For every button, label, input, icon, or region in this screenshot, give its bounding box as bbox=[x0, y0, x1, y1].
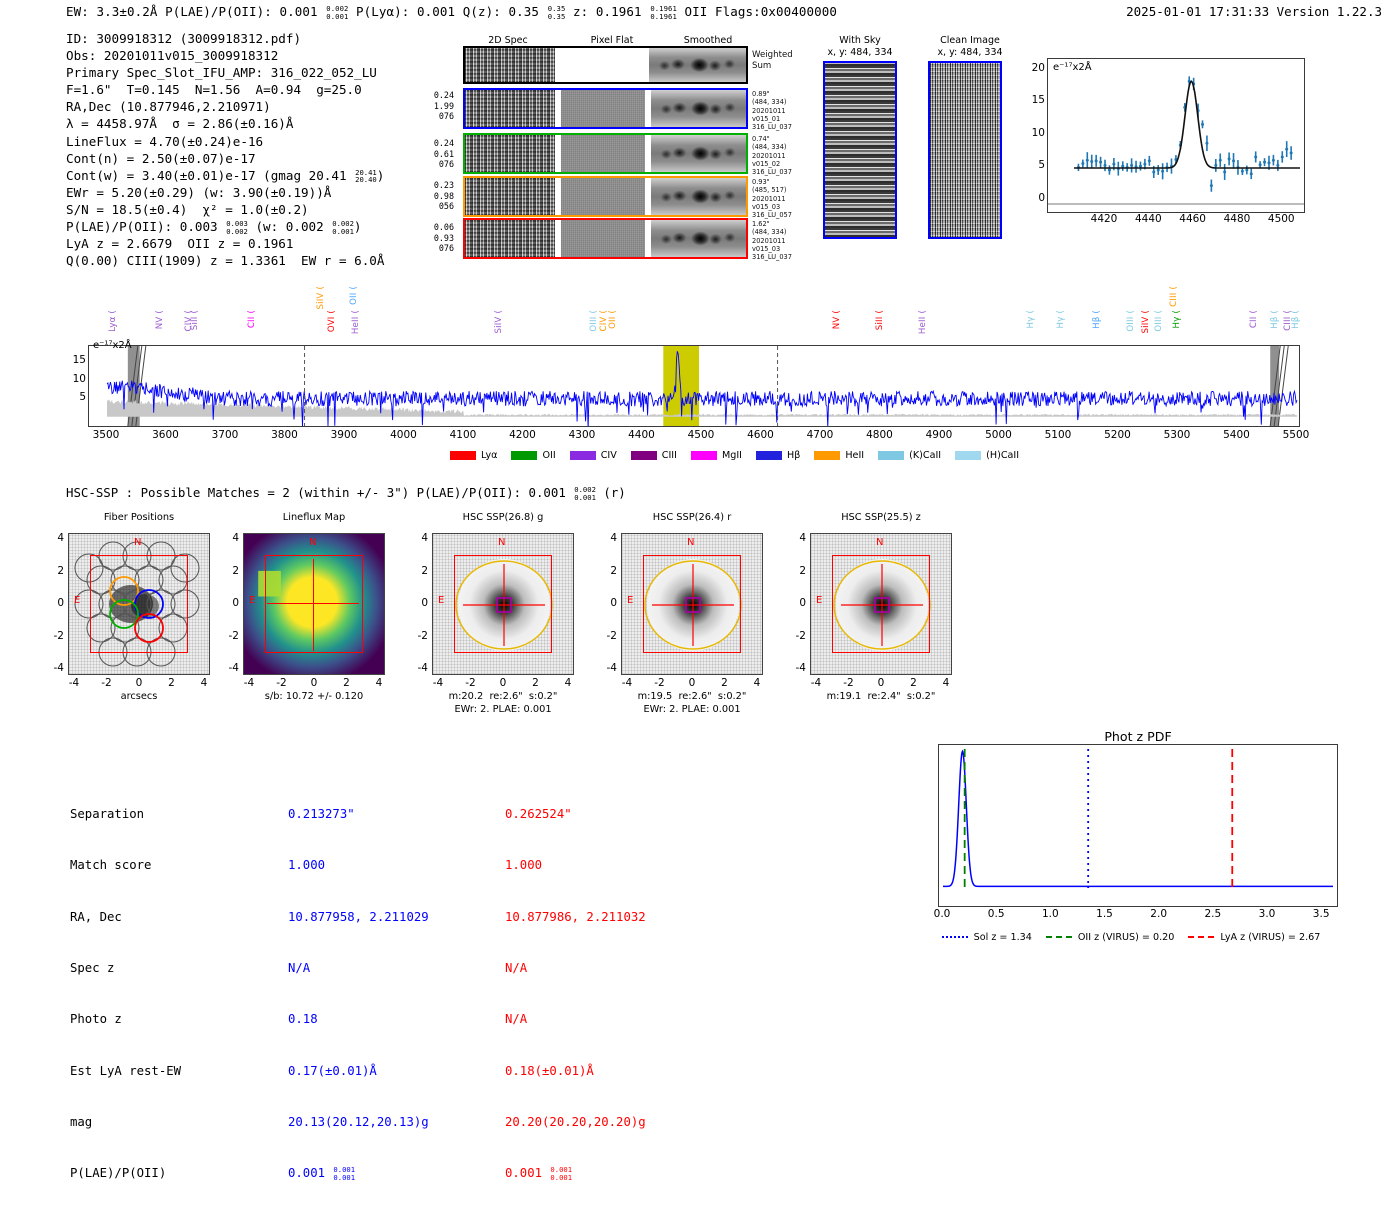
match-table-labels: Separation Match score RA, Dec Spec z Ph… bbox=[70, 772, 181, 1216]
tick-label: -4 bbox=[234, 677, 264, 689]
tick-label: 1.5 bbox=[1085, 908, 1125, 920]
info-contw: Cont(w) = 3.40(±0.01)e-17 (gmag 20.41 20… bbox=[66, 167, 384, 184]
cutout-aperture-box-3 bbox=[643, 555, 741, 653]
tick-label: -4 bbox=[42, 662, 64, 674]
tick-label: 0 bbox=[784, 597, 806, 609]
tick-label: -4 bbox=[784, 662, 806, 674]
info-contn: Cont(n) = 2.50(±0.07)e-17 bbox=[66, 150, 384, 167]
info-ewr: EWr = 5.20(±0.29) (w: 3.90(±0.19))Å bbox=[66, 184, 384, 201]
photz-legend: Sol z = 1.34OII z (VIRUS) = 0.20LyA z (V… bbox=[938, 925, 1338, 944]
spec2d-row-1 bbox=[463, 133, 748, 174]
cutout-caption-2: m:20.2 re:2.6" s:0.2" bbox=[408, 691, 598, 704]
emission-line-label-ovi: OVI ( bbox=[327, 310, 337, 332]
spec2d-title-smoothed: Smoothed bbox=[668, 35, 748, 46]
tick-label: -2 bbox=[42, 630, 64, 642]
match-blue-mag: 20.13(20.12,20.13)g bbox=[288, 1114, 429, 1131]
cutout-crosshair-h bbox=[267, 603, 359, 604]
info-plae: P(LAE)/P(OII): 0.003 0.0030.002 (w: 0.00… bbox=[66, 218, 384, 235]
emission-line-label-hβ: Hβ ( bbox=[1291, 310, 1301, 329]
compass-north-0: N bbox=[134, 537, 141, 548]
photz-legend-label: Sol z = 1.34 bbox=[974, 932, 1032, 943]
tick-label: -4 bbox=[801, 677, 831, 689]
spec2d-title-pixelflat: Pixel Flat bbox=[572, 35, 652, 46]
emission-line-label-oii: OII ( bbox=[349, 286, 359, 305]
tick-label: 3500 bbox=[82, 429, 130, 441]
match-red-plae-errors: 0.0010.001 bbox=[550, 1166, 572, 1181]
tick-label: 4100 bbox=[439, 429, 487, 441]
clean-image-title: Clean Image bbox=[910, 35, 1030, 46]
match-red-plae: 0.001 0.0010.001 bbox=[505, 1165, 646, 1182]
tick-label: 2 bbox=[595, 565, 617, 577]
tick-label: -2 bbox=[406, 630, 428, 642]
clean-image bbox=[928, 61, 1002, 239]
source-info-block: ID: 3009918312 (3009918312.pdf) Obs: 202… bbox=[66, 30, 384, 269]
tick-label: 4700 bbox=[796, 429, 844, 441]
info-obs: Obs: 20201011v015_3009918312 bbox=[66, 47, 384, 64]
cutout-title-1: Lineflux Map bbox=[223, 512, 405, 525]
emission-line-label-hγ: Hγ ( bbox=[1026, 310, 1036, 328]
compass-north-2: N bbox=[498, 537, 505, 548]
spec2d-row-0 bbox=[463, 88, 748, 129]
tick-label: 4900 bbox=[915, 429, 963, 441]
cutout-aperture-box-0 bbox=[90, 555, 188, 653]
legend-item-ciii: CIII bbox=[631, 450, 677, 461]
tick-label: 4480 bbox=[1216, 213, 1258, 225]
tick-label: 0.5 bbox=[976, 908, 1016, 920]
legend-swatch bbox=[878, 451, 904, 460]
tick-label: 5300 bbox=[1153, 429, 1201, 441]
tick-label: -2 bbox=[784, 630, 806, 642]
with-sky-image bbox=[823, 61, 897, 239]
header-z-errors: 0.19610.1961 bbox=[650, 5, 677, 20]
tick-label: 0 bbox=[1021, 192, 1045, 204]
photz-legend-label: OII z (VIRUS) = 0.20 bbox=[1078, 932, 1175, 943]
line-profile-svg bbox=[1048, 59, 1304, 212]
legend-swatch bbox=[814, 451, 840, 460]
emission-line-label-siiv: SiIV ( bbox=[1141, 310, 1151, 334]
tick-label: 5 bbox=[1021, 159, 1045, 171]
tick-label: 4 bbox=[406, 532, 428, 544]
emission-line-label-siiv: SiIV ( bbox=[316, 286, 326, 310]
spec2d-row-0-meta: 0.89" (484, 334) 20201011 v015_01 316_LU… bbox=[752, 90, 792, 131]
header-z-text: z: 0.1961 bbox=[565, 4, 649, 19]
tick-label: 4500 bbox=[677, 429, 725, 441]
legend-swatch bbox=[511, 451, 537, 460]
header-plae-errors: 0.0020.001 bbox=[326, 5, 348, 20]
match-red-specz: N/A bbox=[505, 960, 646, 977]
legend-item-kcaii: (K)CaII bbox=[878, 450, 941, 461]
tick-label: 0 bbox=[217, 597, 239, 609]
compass-east-1: E bbox=[249, 595, 255, 606]
tick-label: 2 bbox=[157, 677, 187, 689]
tick-label: 1.0 bbox=[1030, 908, 1070, 920]
photz-legend-swatch bbox=[1046, 936, 1072, 938]
tick-label: 3800 bbox=[261, 429, 309, 441]
compass-north-1: N bbox=[309, 537, 316, 548]
spec2d-row-2-meta: 0.93" (485, 517) 20201011 v015_03 316_LU… bbox=[752, 178, 792, 219]
tick-label: 2 bbox=[710, 677, 740, 689]
tick-label: 2.0 bbox=[1139, 908, 1179, 920]
tick-label: 0 bbox=[595, 597, 617, 609]
match-label-separation: Separation bbox=[70, 806, 181, 823]
tick-label: 15 bbox=[1021, 94, 1045, 106]
tick-label: 10 bbox=[1021, 127, 1045, 139]
tick-label: 4 bbox=[742, 677, 772, 689]
tick-label: 4200 bbox=[499, 429, 547, 441]
compass-north-4: N bbox=[876, 537, 883, 548]
spec2d-row-0-nums: 0.24 1.99 076 bbox=[420, 90, 454, 122]
legend-swatch bbox=[756, 451, 782, 460]
emission-line-label-siiv: SiIV ( bbox=[494, 310, 504, 334]
tick-label: 4600 bbox=[737, 429, 785, 441]
tick-label: 4 bbox=[931, 677, 961, 689]
line-profile-plot bbox=[1047, 58, 1305, 213]
legend-swatch bbox=[691, 451, 717, 460]
tick-label: 4 bbox=[364, 677, 394, 689]
info-contw-errors: 20.4120.40 bbox=[355, 169, 377, 184]
tick-label: 5000 bbox=[975, 429, 1023, 441]
spec2d-row-3-nums: 0.06 0.93 076 bbox=[420, 222, 454, 254]
tick-label: 5 bbox=[62, 391, 86, 403]
tick-label: 2 bbox=[784, 565, 806, 577]
match-label-mag: mag bbox=[70, 1114, 181, 1131]
cutout-caption-4: m:19.1 re:2.4" s:0.2" bbox=[786, 691, 976, 704]
tick-label: 10 bbox=[62, 373, 86, 385]
tick-label: 2.5 bbox=[1193, 908, 1233, 920]
line-profile-ylabel: e⁻¹⁷x2Å bbox=[1053, 62, 1092, 73]
tick-label: -4 bbox=[59, 677, 89, 689]
info-slot: Primary Spec_Slot_IFU_AMP: 316_022_052_L… bbox=[66, 64, 384, 81]
info-q-line: Q(0.00) CIII(1909) z = 1.3361 EW r = 6.0… bbox=[66, 252, 384, 269]
tick-label: -2 bbox=[267, 677, 297, 689]
legend-item-heii: HeII bbox=[814, 450, 864, 461]
tick-label: 0 bbox=[677, 677, 707, 689]
info-lambda: λ = 4458.97Å σ = 2.86(±0.16)Å bbox=[66, 115, 384, 132]
match-blue-plae-errors: 0.0010.001 bbox=[333, 1166, 355, 1181]
tick-label: -4 bbox=[595, 662, 617, 674]
cutout-title-4: HSC SSP(25.5) z bbox=[790, 512, 972, 525]
tick-label: 15 bbox=[62, 354, 86, 366]
emission-line-label-civ: CIV ( bbox=[184, 310, 194, 332]
legend-label: OII bbox=[542, 450, 555, 461]
emission-line-label-hγ: Hγ ( bbox=[1172, 310, 1182, 328]
emission-line-label-heii: HeII ( bbox=[351, 310, 361, 334]
match-red-mag: 20.20(20.20,20.20)g bbox=[505, 1114, 646, 1131]
tick-label: 4 bbox=[217, 532, 239, 544]
full-spectrum-svg bbox=[89, 346, 1299, 426]
clean-image-coords: x, y: 484, 334 bbox=[910, 47, 1030, 58]
legend-item-oii: OII bbox=[511, 450, 555, 461]
compass-east-4: E bbox=[816, 595, 822, 606]
cutout-title-0: Fiber Positions bbox=[48, 512, 230, 525]
tick-label: 0 bbox=[124, 677, 154, 689]
emission-line-label-hγ: Hγ ( bbox=[1056, 310, 1066, 328]
legend-label: CIV bbox=[601, 450, 617, 461]
spec2d-title-2dspec: 2D Spec bbox=[468, 35, 548, 46]
tick-label: 4 bbox=[189, 677, 219, 689]
cutout-crosshair-v bbox=[313, 559, 314, 651]
legend-label: Lyα bbox=[481, 450, 497, 461]
photz-svg bbox=[939, 745, 1337, 906]
emission-line-label-nv: NV ( bbox=[155, 310, 165, 329]
tick-label: 0 bbox=[406, 597, 428, 609]
info-id: ID: 3009918312 (3009918312.pdf) bbox=[66, 30, 384, 47]
with-sky-title: With Sky bbox=[805, 35, 915, 46]
match-red-radec: 10.877986, 2.211032 bbox=[505, 909, 646, 926]
spec2d-row-1-meta: 0.74" (484, 334) 20201011 v015_02 316_LU… bbox=[752, 135, 792, 176]
tick-label: 4300 bbox=[558, 429, 606, 441]
tick-label: 5200 bbox=[1094, 429, 1142, 441]
tick-label: -2 bbox=[645, 677, 675, 689]
tick-label: -4 bbox=[612, 677, 642, 689]
spec2d-row-2 bbox=[463, 176, 748, 217]
spec2d-row-3-meta: 1.62" (484, 334) 20201011 v015_03 316_LU… bbox=[752, 220, 792, 261]
cutout-caption-0: arcsecs bbox=[44, 691, 234, 704]
full-spectrum-plot bbox=[88, 345, 1300, 427]
legend-item-lyα: Lyα bbox=[450, 450, 497, 461]
legend-item-hβ: Hβ bbox=[756, 450, 800, 461]
match-blue-photoz: 0.18 bbox=[288, 1011, 429, 1028]
legend-item-mgii: MgII bbox=[691, 450, 742, 461]
match-blue-radec: 10.877958, 2.211029 bbox=[288, 909, 429, 926]
match-red-photoz: N/A bbox=[505, 1011, 646, 1028]
tick-label: 2 bbox=[332, 677, 362, 689]
match-blue-separation: 0.213273" bbox=[288, 806, 429, 823]
tick-label: 0 bbox=[299, 677, 329, 689]
legend-swatch bbox=[955, 451, 981, 460]
legend-label: Hβ bbox=[787, 450, 800, 461]
tick-label: -2 bbox=[92, 677, 122, 689]
compass-east-3: E bbox=[627, 595, 633, 606]
photz-legend-lya: LyA z (VIRUS) = 2.67 bbox=[1188, 932, 1320, 943]
emission-line-label-heii: HeII ( bbox=[918, 310, 928, 334]
header-qz-errors: 0.350.35 bbox=[548, 5, 566, 20]
tick-label: 0.0 bbox=[922, 908, 962, 920]
spec2d-row-3 bbox=[463, 218, 748, 259]
cutout-title-2: HSC SSP(26.8) g bbox=[412, 512, 594, 525]
legend-swatch bbox=[450, 451, 476, 460]
tick-label: 0 bbox=[488, 677, 518, 689]
cutout-aperture-box-2 bbox=[454, 555, 552, 653]
tick-label: 4440 bbox=[1127, 213, 1169, 225]
legend-swatch bbox=[631, 451, 657, 460]
tick-label: -2 bbox=[595, 630, 617, 642]
photz-legend-label: LyA z (VIRUS) = 2.67 bbox=[1220, 932, 1320, 943]
tick-label: 4420 bbox=[1083, 213, 1125, 225]
tick-label: 4 bbox=[42, 532, 64, 544]
match-label-specz: Spec z bbox=[70, 960, 181, 977]
tick-label: 0 bbox=[866, 677, 896, 689]
tick-label: 5100 bbox=[1034, 429, 1082, 441]
tick-label: 5400 bbox=[1213, 429, 1261, 441]
tick-label: 4 bbox=[553, 677, 583, 689]
emission-line-label-oiii: OIII ( bbox=[1154, 310, 1164, 332]
tick-label: 4500 bbox=[1260, 213, 1302, 225]
header-timestamp: 2025-01-01 17:31:33 Version 1.22.3 bbox=[1126, 4, 1382, 19]
emission-line-label-siii: SiII ( bbox=[875, 310, 885, 330]
with-sky-coords: x, y: 484, 334 bbox=[805, 47, 915, 58]
photz-plot bbox=[938, 744, 1338, 907]
match-label-score: Match score bbox=[70, 857, 181, 874]
legend-item-civ: CIV bbox=[570, 450, 617, 461]
cutout-caption-1: s/b: 10.72 +/- 0.120 bbox=[219, 691, 409, 704]
photz-title: Phot z PDF bbox=[938, 729, 1338, 744]
photz-legend-swatch bbox=[1188, 936, 1214, 938]
match-label-plae: P(LAE)/P(OII) bbox=[70, 1165, 181, 1182]
legend-item-hcaii: (H)CaII bbox=[955, 450, 1019, 461]
legend-label: CIII bbox=[662, 450, 677, 461]
spectrum-legend: LyαOIICIVCIIIMgIIHβHeII(K)CaII(H)CaII bbox=[450, 443, 1210, 462]
match-label-ew: Est LyA rest-EW bbox=[70, 1063, 181, 1080]
spec2d-weighted-sum-label: Weighted Sum bbox=[752, 50, 793, 71]
tick-label: 3600 bbox=[142, 429, 190, 441]
header-plya-text: P(Lyα): 0.001 Q(z): 0.35 bbox=[348, 4, 546, 19]
match-red-score: 1.000 bbox=[505, 857, 646, 874]
tick-label: -4 bbox=[423, 677, 453, 689]
spectrum-ylabel: e⁻¹⁷x2Å bbox=[93, 340, 132, 351]
tick-label: 3.0 bbox=[1247, 908, 1287, 920]
match-column-blue: 0.213273" 1.000 10.877958, 2.211029 N/A … bbox=[288, 772, 429, 1216]
match-blue-ew: 0.17(±0.01)Å bbox=[288, 1063, 429, 1080]
info-radec: RA,Dec (10.877946,2.210971) bbox=[66, 98, 384, 115]
tick-label: 20 bbox=[1021, 62, 1045, 74]
tick-label: 2 bbox=[42, 565, 64, 577]
tick-label: -2 bbox=[217, 630, 239, 642]
match-blue-plae: 0.001 0.0010.001 bbox=[288, 1165, 429, 1182]
emission-line-label-cii: CII ( bbox=[1249, 310, 1259, 328]
tick-label: 3.5 bbox=[1301, 908, 1341, 920]
info-redshifts: LyA z = 2.6679 OII z = 0.1961 bbox=[66, 235, 384, 252]
emission-line-label-cii: CII ( bbox=[247, 310, 257, 328]
tick-label: -4 bbox=[406, 662, 428, 674]
tick-label: 4 bbox=[784, 532, 806, 544]
emission-line-label-nv: NV ( bbox=[832, 310, 842, 329]
spec2d-weighted-sum-row bbox=[463, 46, 748, 84]
tick-label: 2 bbox=[406, 565, 428, 577]
tick-label: 2 bbox=[521, 677, 551, 689]
legend-label: (K)CaII bbox=[909, 450, 941, 461]
tick-label: -2 bbox=[456, 677, 486, 689]
tick-label: -2 bbox=[834, 677, 864, 689]
tick-label: 4000 bbox=[380, 429, 428, 441]
spec2d-row-1-nums: 0.24 0.61 076 bbox=[420, 138, 454, 170]
compass-east-2: E bbox=[438, 595, 444, 606]
match-label-photoz: Photo z bbox=[70, 1011, 181, 1028]
tick-label: 4800 bbox=[856, 429, 904, 441]
photz-legend-sol: Sol z = 1.34 bbox=[942, 932, 1032, 943]
header-flags-text: OII Flags:0x00400000 bbox=[677, 4, 837, 19]
emission-line-label-lyα: Lyα ( bbox=[108, 310, 118, 332]
tick-label: 3900 bbox=[320, 429, 368, 441]
emission-line-label-oiii: OIII ( bbox=[1126, 310, 1136, 332]
legend-label: MgII bbox=[722, 450, 742, 461]
match-red-ew: 0.18(±0.01)Å bbox=[505, 1063, 646, 1080]
emission-line-label-ciii: CIII ( bbox=[1169, 286, 1179, 307]
info-params: F=1.6" T=0.145 N=1.56 A=0.94 g=25.0 bbox=[66, 81, 384, 98]
cutout-title-3: HSC SSP(26.4) r bbox=[601, 512, 783, 525]
tick-label: 3700 bbox=[201, 429, 249, 441]
info-plae-b-errors: 0.0020.001 bbox=[332, 220, 354, 235]
tick-label: 4 bbox=[595, 532, 617, 544]
tick-label: 2 bbox=[899, 677, 929, 689]
compass-east-0: E bbox=[74, 595, 80, 606]
info-lineflux: LineFlux = 4.70(±0.24)e-16 bbox=[66, 133, 384, 150]
emission-line-label-hβ: Hβ ( bbox=[1092, 310, 1102, 329]
cutout-caption-3: m:19.5 re:2.6" s:0.2" bbox=[597, 691, 787, 704]
tick-label: 4460 bbox=[1172, 213, 1214, 225]
hsc-heading: HSC-SSP : Possible Matches = 2 (within +… bbox=[66, 485, 626, 501]
tick-label: 0 bbox=[42, 597, 64, 609]
match-blue-specz: N/A bbox=[288, 960, 429, 977]
match-column-red: 0.262524" 1.000 10.877986, 2.211032 N/A … bbox=[505, 772, 646, 1216]
tick-label: 2 bbox=[217, 565, 239, 577]
hsc-heading-errors: 0.0020.001 bbox=[574, 486, 596, 501]
info-plae-a-errors: 0.0030.002 bbox=[226, 220, 248, 235]
cutout-aperture-box-4 bbox=[832, 555, 930, 653]
info-sn: S/N = 18.5(±0.4) χ² = 1.0(±0.2) bbox=[66, 201, 384, 218]
tick-label: 5500 bbox=[1272, 429, 1320, 441]
emission-line-label-oiii: OIII ( bbox=[589, 310, 599, 332]
photz-legend-swatch bbox=[942, 936, 968, 938]
photz-legend-oii: OII z (VIRUS) = 0.20 bbox=[1046, 932, 1175, 943]
compass-north-3: N bbox=[687, 537, 694, 548]
tick-label: 4400 bbox=[618, 429, 666, 441]
legend-label: HeII bbox=[845, 450, 864, 461]
cutout-caption2-3: EWr: 2. PLAE: 0.001 bbox=[597, 704, 787, 717]
legend-swatch bbox=[570, 451, 596, 460]
emission-line-label-hβ: Hβ ( bbox=[1270, 310, 1280, 329]
match-label-radec: RA, Dec bbox=[70, 909, 181, 926]
legend-label: (H)CaII bbox=[986, 450, 1019, 461]
header-summary-text: EW: 3.3±0.2Å P(LAE)/P(OII): 0.001 bbox=[66, 4, 325, 19]
header-summary-line: EW: 3.3±0.2Å P(LAE)/P(OII): 0.001 0.0020… bbox=[66, 4, 837, 20]
match-blue-score: 1.000 bbox=[288, 857, 429, 874]
match-red-separation: 0.262524" bbox=[505, 806, 646, 823]
tick-label: -4 bbox=[217, 662, 239, 674]
spec2d-row-2-nums: 0.23 0.98 056 bbox=[420, 180, 454, 212]
emission-line-label-oii: OII ( bbox=[608, 310, 618, 329]
cutout-caption2-2: EWr: 2. PLAE: 0.001 bbox=[408, 704, 598, 717]
